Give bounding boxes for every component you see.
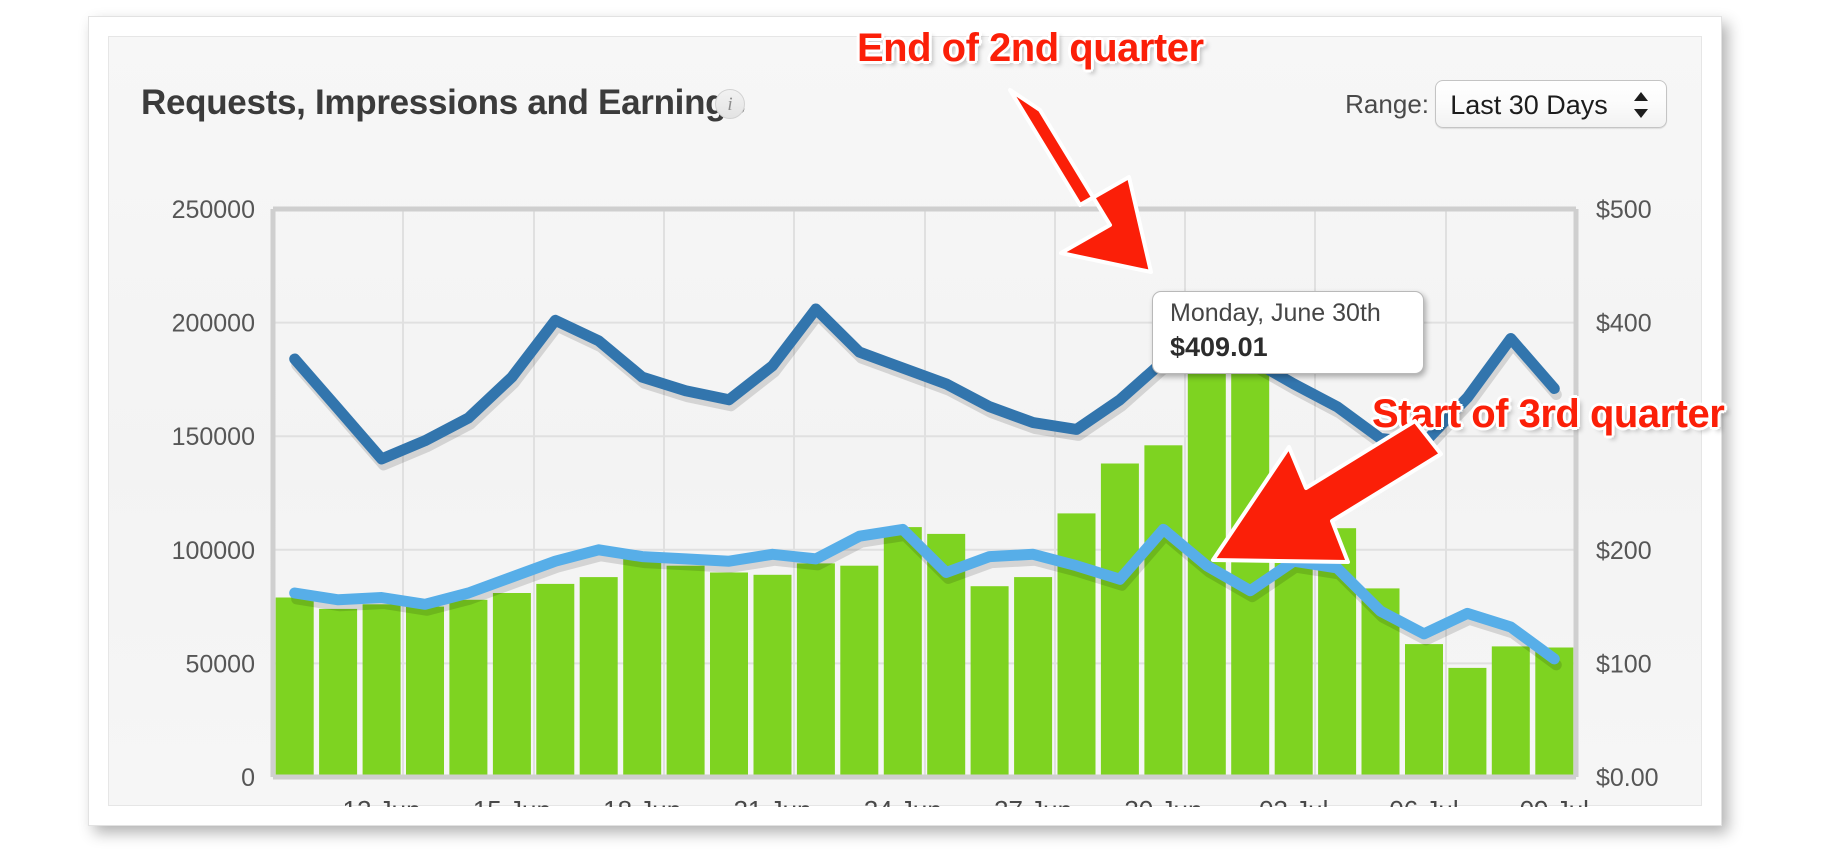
info-icon[interactable]: i xyxy=(715,89,745,119)
y-axis-left-tick-label: 150000 xyxy=(172,423,255,451)
bar xyxy=(971,586,1009,777)
y-axis-left-tick-label: 0 xyxy=(241,764,255,792)
x-axis-tick-label: 18 Jun xyxy=(603,795,681,807)
y-axis-left-tick-label: 50000 xyxy=(185,650,255,678)
y-axis-right-tick-label: $200 xyxy=(1596,537,1652,565)
annotation-end-of-2nd-quarter: End of 2nd quarter xyxy=(857,26,1204,71)
tooltip-value: $409.01 xyxy=(1170,332,1268,363)
bar xyxy=(1058,513,1096,777)
x-axis-tick-label: 03 Jul xyxy=(1259,795,1328,807)
chart-svg: 050000100000150000200000250000 $0.00$100… xyxy=(109,129,1703,807)
bar xyxy=(493,593,531,777)
bar xyxy=(667,566,705,777)
chart-tooltip: Monday, June 30th $409.01 xyxy=(1152,291,1424,374)
bar xyxy=(1405,644,1443,777)
bar xyxy=(319,609,357,777)
y-axis-right-tick-label: $500 xyxy=(1596,196,1652,224)
bar xyxy=(1492,646,1530,777)
x-axis-tick-label: 24 Jun xyxy=(864,795,942,807)
bar xyxy=(580,577,618,777)
x-axis-tick-label: 06 Jul xyxy=(1389,795,1458,807)
annotation-start-of-3rd-quarter: Start of 3rd quarter xyxy=(1372,392,1724,437)
y-axis-left-tick-label: 100000 xyxy=(172,537,255,565)
y-axis-right-tick-label: $0.00 xyxy=(1596,764,1659,792)
bar xyxy=(1101,464,1139,778)
range-select[interactable]: Last 30 Days xyxy=(1435,80,1667,128)
range-select-value: Last 30 Days xyxy=(1436,90,1622,121)
x-axis-tick-label: 21 Jun xyxy=(733,795,811,807)
chevron-updown-icon xyxy=(1632,90,1650,120)
y-axis-left-tick-label: 200000 xyxy=(172,310,255,338)
page-title: Requests, Impressions and Earnings xyxy=(141,83,745,123)
bar xyxy=(623,557,661,777)
bar xyxy=(449,600,487,777)
bar xyxy=(710,573,748,778)
y-axis-right-tick-label: $400 xyxy=(1596,310,1652,338)
bar xyxy=(797,563,835,777)
x-axis-tick-label: 15 Jun xyxy=(473,795,551,807)
x-axis-tick-label: 27 Jun xyxy=(994,795,1072,807)
bar xyxy=(1231,312,1269,777)
bar xyxy=(884,527,922,777)
y-axis-left-tick-label: 250000 xyxy=(172,196,255,224)
y-axis-right-tick-label: $100 xyxy=(1596,650,1652,678)
bar xyxy=(363,604,401,777)
range-label: Range: xyxy=(1345,89,1429,120)
bar xyxy=(754,575,792,777)
y-axis-left-labels: 050000100000150000200000250000 xyxy=(172,196,255,792)
x-axis-tick-label: 30 Jun xyxy=(1124,795,1202,807)
bar xyxy=(1014,577,1052,777)
x-axis-tick-label: 12 Jun xyxy=(343,795,421,807)
bar xyxy=(536,584,574,777)
tooltip-date: Monday, June 30th xyxy=(1170,299,1381,328)
bar xyxy=(1144,445,1182,777)
bar xyxy=(406,607,444,777)
bar xyxy=(840,566,878,777)
x-axis-labels: 12 Jun15 Jun18 Jun21 Jun24 Jun27 Jun30 J… xyxy=(343,795,1589,807)
bar xyxy=(276,598,314,778)
y-axis-right-labels: $0.00$100$200$400$500 xyxy=(1596,196,1659,792)
chart-plot-area: 050000100000150000200000250000 $0.00$100… xyxy=(109,129,1701,805)
bar xyxy=(1448,668,1486,777)
x-axis-tick-label: 09 Jul xyxy=(1520,795,1589,807)
